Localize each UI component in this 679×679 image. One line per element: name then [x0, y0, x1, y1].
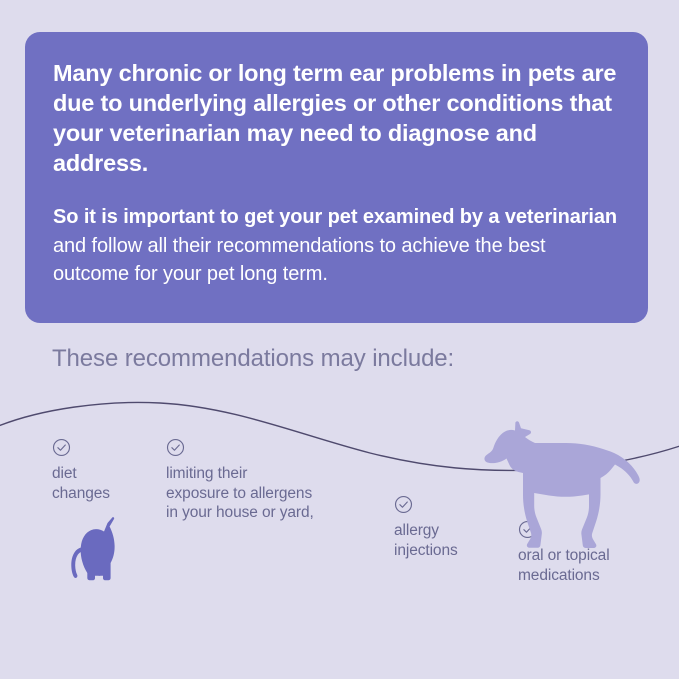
closing-paragraph-rest: and follow all their recommendations to … [53, 235, 545, 286]
recommendation-item-diet-changes: diet changes [52, 438, 162, 503]
callout-card: Many chronic or long term ear problems i… [25, 32, 648, 323]
recommendation-label: diet changes [52, 464, 162, 503]
check-circle-icon [52, 438, 71, 457]
recommendation-label: limiting their exposure to allergens in … [166, 464, 366, 523]
closing-paragraph: So it is important to get your pet exami… [53, 203, 620, 289]
recommendations-heading: These recommendations may include: [52, 344, 454, 374]
lead-paragraph: Many chronic or long term ear problems i… [53, 58, 620, 178]
dog-silhouette-icon [483, 420, 648, 555]
check-circle-icon [394, 495, 413, 514]
closing-paragraph-emphasis: So it is important to get your pet exami… [53, 206, 617, 228]
recommendation-item-limit-exposure: limiting their exposure to allergens in … [166, 438, 366, 523]
cat-silhouette-icon [63, 517, 125, 582]
check-circle-icon [166, 438, 185, 457]
infographic-canvas: Many chronic or long term ear problems i… [0, 0, 679, 679]
